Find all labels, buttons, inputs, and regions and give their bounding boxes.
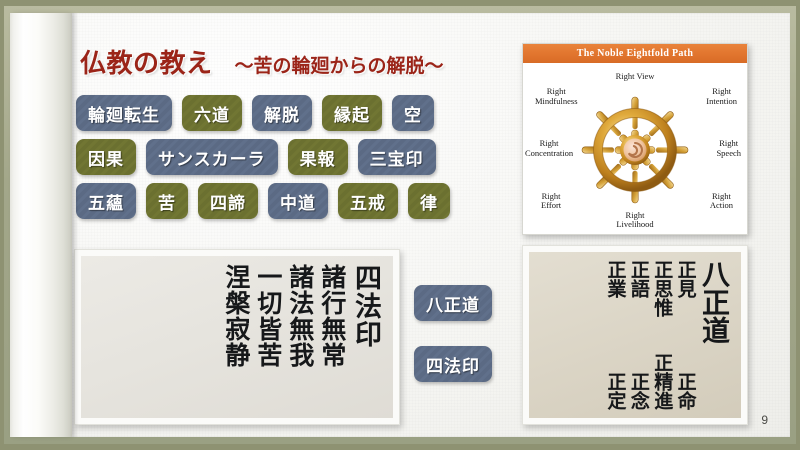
calligraphy-pair-4: 正業 正定 xyxy=(605,260,624,410)
wheel-label-right-effort: Right Effort xyxy=(541,192,561,211)
page-border-frame: 仏教の教え ～苦の輪廻からの解脱～ 輪廻転生 六道 解脱 縁起 空 因果 サンス… xyxy=(4,6,796,444)
term-button-ku-suffering[interactable]: 苦 xyxy=(146,183,188,219)
calligraphy-pair-1: 正見 正命 xyxy=(675,260,694,410)
term-button-gokai[interactable]: 五戒 xyxy=(338,183,398,219)
slide-canvas: 仏教の教え ～苦の輪廻からの解脱～ 輪廻転生 六道 解脱 縁起 空 因果 サンス… xyxy=(0,0,800,450)
wheel-label-right-intention: Right Intention xyxy=(706,87,737,106)
calligraphy-item-shojo: 正定 xyxy=(605,372,624,410)
link-button-shihoin[interactable]: 四法印 xyxy=(414,346,492,382)
calligraphy-paper-left: 四法印 諸行無常 諸法無我 一切皆苦 涅槃寂静 xyxy=(81,256,393,418)
calligraphy-item-shomyo: 正命 xyxy=(675,372,694,410)
calligraphy-line-nehan-jakujo: 涅槃寂静 xyxy=(223,264,249,368)
eightfold-path-banner-title: The Noble Eightfold Path xyxy=(523,44,747,63)
page-number: 9 xyxy=(761,413,768,427)
term-button-grid: 輪廻転生 六道 解脱 縁起 空 因果 サンスカーラ 果報 三宝印 五蘊 苦 四諦… xyxy=(76,95,516,219)
term-button-sanskara[interactable]: サンスカーラ xyxy=(146,139,278,175)
term-button-ku[interactable]: 空 xyxy=(392,95,434,131)
term-button-chudo[interactable]: 中道 xyxy=(268,183,328,219)
wheel-label-right-speech: Right Speech xyxy=(716,139,741,158)
calligraphy-item-shonen: 正念 xyxy=(628,372,647,410)
calligraphy-item-shoshiyui: 正思惟 xyxy=(652,260,671,317)
calligraphy-title-shihoin: 四法印 xyxy=(351,264,379,348)
term-row-3: 五蘊 苦 四諦 中道 五戒 律 xyxy=(76,183,516,219)
term-button-sanboin[interactable]: 三宝印 xyxy=(358,139,436,175)
eightfold-path-image-panel[interactable]: The Noble Eightfold Path xyxy=(522,43,748,235)
dharma-wheel-icon xyxy=(576,91,694,209)
term-row-1: 輪廻転生 六道 解脱 縁起 空 xyxy=(76,95,516,131)
page-title: 仏教の教え ～苦の輪廻からの解脱～ xyxy=(80,43,444,80)
title-main-text: 仏教の教え xyxy=(80,43,213,80)
term-button-ritsu[interactable]: 律 xyxy=(408,183,450,219)
calligraphy-title-hasshodo: 八正道 xyxy=(700,260,729,410)
calligraphy-line-shoho-muga: 諸法無我 xyxy=(287,264,313,368)
center-link-buttons: 八正道 四法印 xyxy=(414,285,492,382)
term-row-2: 因果 サンスカーラ 果報 三宝印 xyxy=(76,139,516,175)
calligraphy-pair-2: 正思惟 正精進 xyxy=(652,260,671,410)
wheel-label-right-concentration: Right Concentration xyxy=(525,139,573,158)
calligraphy-panel-shihoin[interactable]: 四法印 諸行無常 諸法無我 一切皆苦 涅槃寂静 xyxy=(74,249,400,425)
wheel-label-right-view: Right View xyxy=(616,72,655,82)
term-button-goun[interactable]: 五蘊 xyxy=(76,183,136,219)
calligraphy-panel-hasshodo[interactable]: 八正道 正見 正命 正思惟 正精進 正語 xyxy=(522,245,748,425)
term-button-gedatsu[interactable]: 解脱 xyxy=(252,95,312,131)
term-button-rinne-tensho[interactable]: 輪廻転生 xyxy=(76,95,172,131)
wheel-label-right-action: Right Action xyxy=(710,192,733,211)
calligraphy-item-shogo-speech: 正語 xyxy=(628,260,647,298)
link-button-hasshodo[interactable]: 八正道 xyxy=(414,285,492,321)
calligraphy-item-shogo-action: 正業 xyxy=(605,260,624,298)
calligraphy-item-shoken: 正見 xyxy=(675,260,694,298)
term-button-engi[interactable]: 縁起 xyxy=(322,95,382,131)
dharma-wheel-diagram: Right View Right Mindfulness Right Inten… xyxy=(523,63,747,235)
calligraphy-pair-3: 正語 正念 xyxy=(628,260,647,410)
wheel-label-right-mindfulness: Right Mindfulness xyxy=(535,87,578,106)
term-button-inga[interactable]: 因果 xyxy=(76,139,136,175)
wheel-label-right-livelihood: Right Livelihood xyxy=(616,211,653,230)
term-button-rokudo[interactable]: 六道 xyxy=(182,95,242,131)
calligraphy-line-issai-kaiku: 一切皆苦 xyxy=(255,264,281,368)
page-curl-binding xyxy=(10,13,72,437)
calligraphy-paper-right: 八正道 正見 正命 正思惟 正精進 正語 xyxy=(529,252,741,418)
term-button-shitai[interactable]: 四諦 xyxy=(198,183,258,219)
calligraphy-line-shogyo-mujo: 諸行無常 xyxy=(319,264,345,368)
calligraphy-item-shoshojin: 正精進 xyxy=(652,353,671,410)
title-subtitle-text: ～苦の輪廻からの解脱～ xyxy=(235,51,444,78)
page-sheet: 仏教の教え ～苦の輪廻からの解脱～ 輪廻転生 六道 解脱 縁起 空 因果 サンス… xyxy=(10,13,790,437)
term-button-kaho[interactable]: 果報 xyxy=(288,139,348,175)
